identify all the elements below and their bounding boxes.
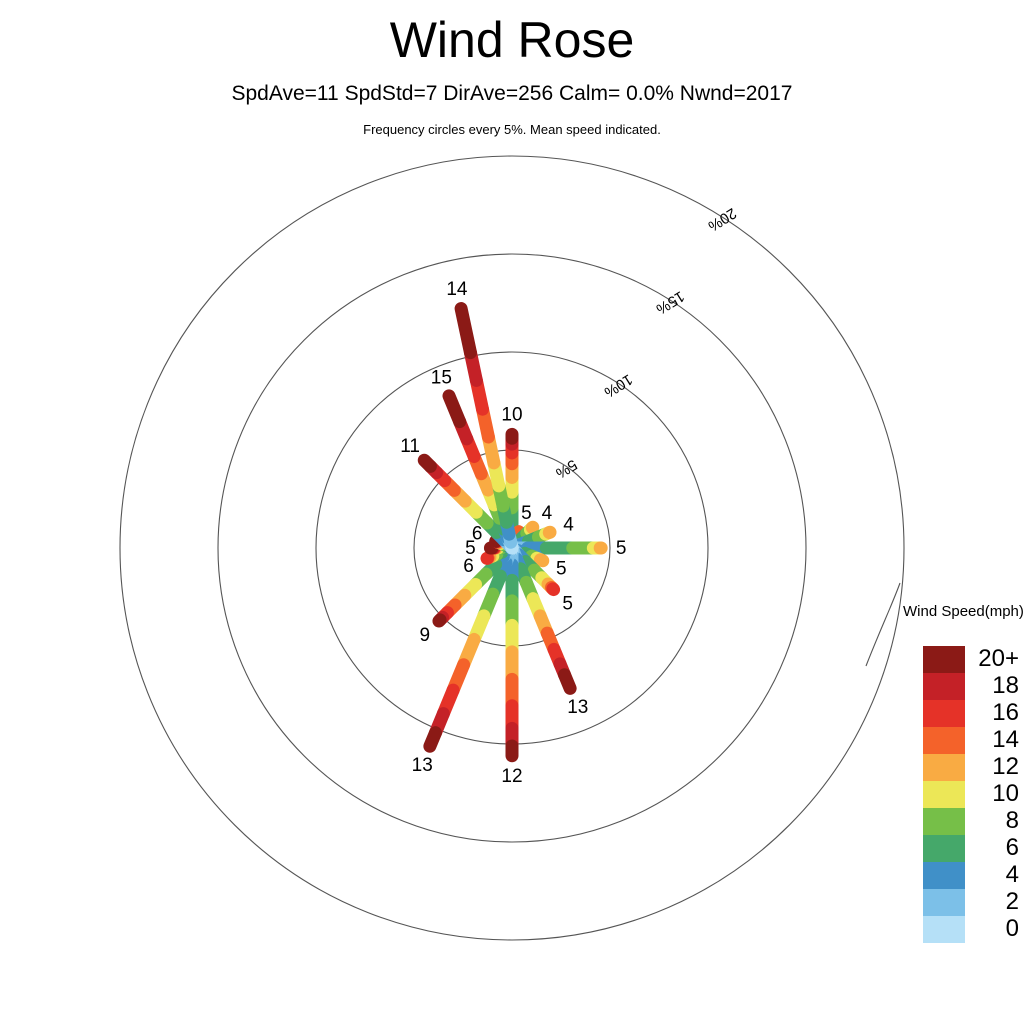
petal-segment — [449, 396, 460, 422]
petal-mean-speed-label: 13 — [567, 697, 588, 718]
ring-label: 5% — [553, 456, 580, 482]
petal-segment — [461, 309, 470, 353]
petal-mean-speed-label: 6 — [463, 556, 474, 577]
petal-segment — [439, 620, 440, 621]
ring-label: 15% — [653, 287, 687, 317]
petal-mean-speed-label: 5 — [521, 503, 532, 524]
petal-mean-speed-label: 11 — [400, 436, 420, 457]
petal-mean-speed-label: 12 — [501, 766, 522, 787]
petal-mean-speed-label: 10 — [501, 404, 522, 425]
petal-mean-speed-label: 14 — [446, 279, 468, 300]
legend-title: Wind Speed(mph) — [903, 603, 1024, 620]
petal-mean-speed-label: 5 — [562, 594, 573, 615]
petal-mean-speed-label: 5 — [616, 538, 627, 559]
wind-rose-page: Wind Rose SpdAve=11 SpdStd=7 DirAve=256 … — [0, 0, 1024, 1024]
petal-segment — [430, 733, 436, 747]
petal-segment — [553, 589, 554, 590]
ring-label: 10% — [601, 370, 635, 400]
petal-mean-speed-label: 9 — [420, 625, 431, 646]
petal-segment — [424, 460, 430, 466]
petal-mean-speed-label: 13 — [412, 755, 433, 776]
legend-leader-line — [866, 583, 900, 666]
petal-mean-speed-label: 5 — [556, 558, 567, 579]
petal-mean-speed-label: 4 — [542, 503, 553, 524]
petal-segment — [565, 675, 571, 689]
petal-segment — [540, 560, 542, 561]
wind-rose-plot: 5%10%15%20%105445551312139656111514 — [0, 0, 1024, 1024]
petal-mean-speed-label: 15 — [431, 367, 452, 388]
ring-label: 20% — [705, 204, 739, 234]
petal-mean-speed-label: 6 — [472, 524, 483, 545]
petal-mean-speed-label: 4 — [563, 515, 574, 536]
